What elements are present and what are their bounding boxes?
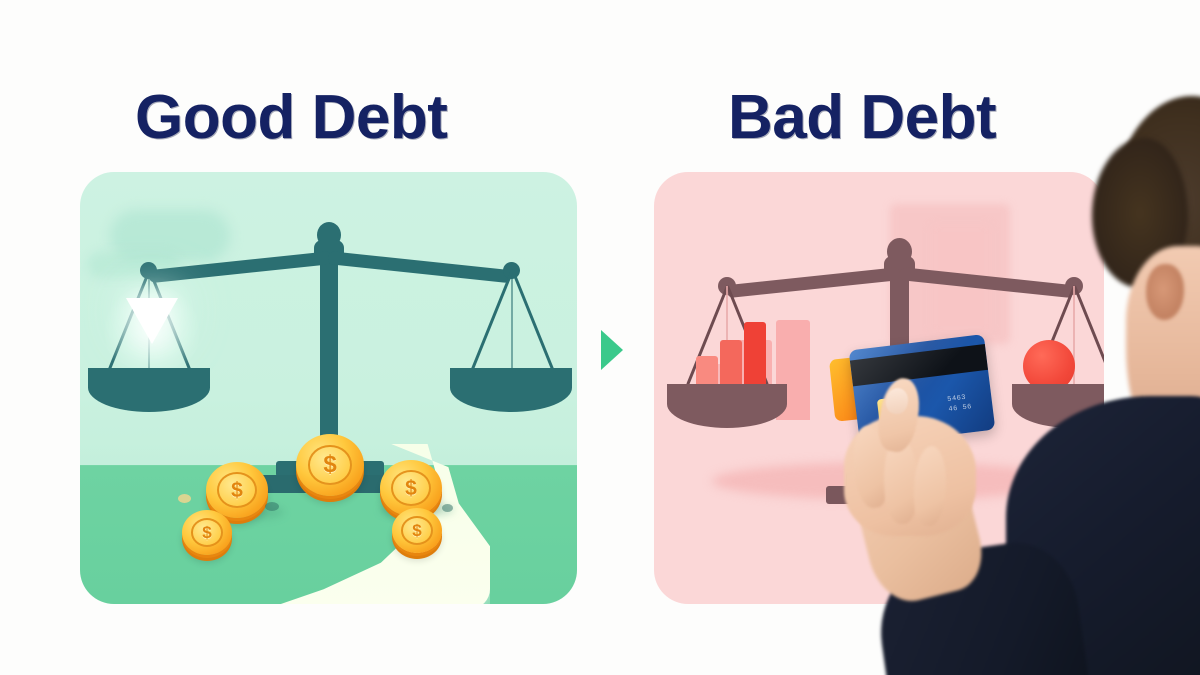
scale-pan-left bbox=[667, 384, 787, 428]
good-debt-panel: $ $ $ $ $ bbox=[80, 172, 577, 604]
coin-inner: $ bbox=[191, 518, 223, 547]
coin-front-left: $ bbox=[182, 510, 232, 555]
glowing-down-arrow-icon bbox=[126, 298, 178, 344]
pan-bar-3 bbox=[744, 322, 766, 392]
coin-pedestal: $ bbox=[296, 434, 364, 496]
page-title-good-debt: Good Debt bbox=[135, 82, 447, 153]
coin-dollar-symbol: $ bbox=[202, 524, 211, 541]
scale-pan-right bbox=[450, 368, 572, 412]
coin-inner: $ bbox=[391, 470, 431, 506]
scale-pan-left bbox=[88, 368, 210, 412]
coin-inner: $ bbox=[217, 472, 257, 508]
scale-string-right-c bbox=[511, 270, 513, 370]
person-photo-overlay: 5463 46 56 bbox=[826, 96, 1200, 675]
infographic-stage: Good Debt Bad Debt bbox=[0, 0, 1200, 675]
scale-arm-right bbox=[327, 251, 511, 283]
pebble-icon bbox=[265, 502, 279, 511]
scale-string-right-a bbox=[471, 269, 514, 370]
pebble-light-icon bbox=[178, 494, 191, 503]
coin-dollar-symbol: $ bbox=[323, 453, 336, 477]
transition-arrow-icon bbox=[601, 330, 623, 370]
coin-dollar-symbol: $ bbox=[412, 522, 421, 539]
coin-dollar-symbol: $ bbox=[405, 478, 417, 499]
pebble-icon bbox=[442, 504, 453, 512]
coin-inner: $ bbox=[308, 445, 352, 485]
scale-string-right-b bbox=[511, 269, 554, 370]
coin-inner: $ bbox=[401, 516, 433, 545]
coin-front-right: $ bbox=[392, 508, 442, 553]
coin-dollar-symbol: $ bbox=[231, 480, 243, 501]
